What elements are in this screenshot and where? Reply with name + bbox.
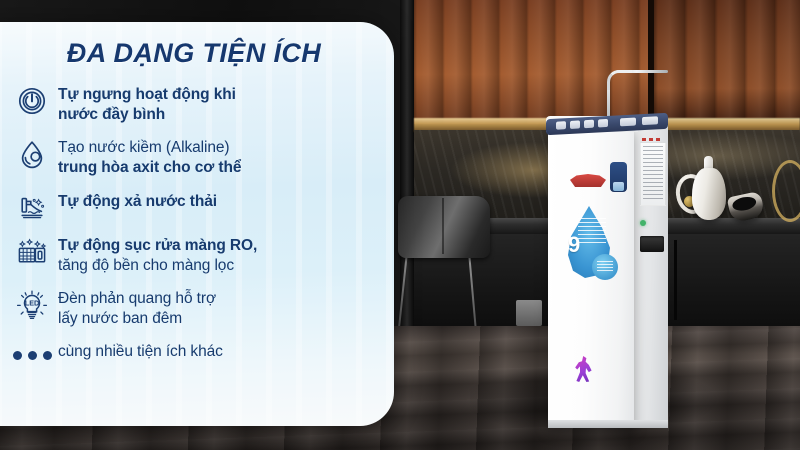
feature-6-line-1: cùng nhiều tiện ích khác xyxy=(58,342,223,362)
feature-2-line-2: trung hòa axit cho cơ thể xyxy=(58,158,241,178)
led-bulb-icon: LED xyxy=(6,288,58,322)
sticker-number: 9 xyxy=(568,232,580,258)
sticker-text-lines xyxy=(578,218,606,244)
spec-label xyxy=(640,142,666,206)
list-item-text: Tự động xả nước thải xyxy=(58,191,217,212)
dispenser-badge xyxy=(610,162,627,192)
promo-banner: 9 ĐA DẠNG TIỆN ÍCH xyxy=(0,0,800,450)
cabinet-plinth xyxy=(516,300,542,326)
list-item-text: Đèn phản quang hỗ trợ lấy nước ban đêm xyxy=(58,288,216,329)
ro-membrane-icon xyxy=(6,235,58,267)
black-chair xyxy=(398,196,490,258)
list-item-text: Tự động sục rửa màng RO, tăng độ bền cho… xyxy=(58,235,257,276)
dot-3 xyxy=(43,351,52,360)
feature-card: ĐA DẠNG TIỆN ÍCH Tự ngưng hoạt động khi xyxy=(0,22,394,426)
wood-upper-cabinet-right xyxy=(654,0,800,118)
list-item[interactable]: Tự động sục rửa màng RO, tăng độ bền cho… xyxy=(6,235,390,276)
list-item-text: Tự ngưng hoạt động khi nước đầy bình xyxy=(58,84,236,125)
feature-5-line-1: Đèn phản quang hỗ trợ xyxy=(58,289,216,309)
dot-1 xyxy=(13,351,22,360)
list-item[interactable]: Tự ngưng hoạt động khi nước đầy bình xyxy=(6,84,390,125)
three-dots-icon xyxy=(6,341,58,360)
feature-4-line-1: Tự động sục rửa màng RO, xyxy=(58,236,257,256)
faucet-curve xyxy=(607,70,632,95)
vent-slot xyxy=(640,236,664,252)
status-indicator-icon xyxy=(640,220,646,226)
feature-3-line-1: Tự động xả nước thải xyxy=(58,192,217,212)
svg-text:LED: LED xyxy=(25,298,39,307)
list-item[interactable]: Tạo nước kiềm (Alkaline) trung hòa axit … xyxy=(6,137,390,178)
list-item-text: cùng nhiều tiện ích khác xyxy=(58,341,223,362)
list-item[interactable]: cùng nhiều tiện ích khác xyxy=(6,341,390,362)
gold-ring-decor xyxy=(772,160,800,222)
feature-1-line-1: Tự ngưng hoạt động khi xyxy=(58,85,236,105)
feature-2-line-1: Tạo nước kiềm (Alkaline) xyxy=(58,138,241,158)
list-item[interactable]: LED Đèn phản quang hỗ trợ lấy nước ban đ… xyxy=(6,288,390,329)
list-item[interactable]: Tự động xả nước thải xyxy=(6,191,390,223)
control-button-5[interactable] xyxy=(620,117,636,126)
purifier-base xyxy=(548,420,668,428)
list-item-text: Tạo nước kiềm (Alkaline) trung hòa axit … xyxy=(58,137,241,178)
teapot xyxy=(692,168,726,220)
dot-2 xyxy=(28,351,37,360)
feature-5-line-2: lấy nước ban đêm xyxy=(58,309,216,329)
spec-label-header xyxy=(642,138,660,141)
control-button-4[interactable] xyxy=(598,119,608,128)
power-icon xyxy=(6,84,58,116)
waste-water-drain-icon xyxy=(6,191,58,223)
water-purifier-unit: 9 xyxy=(548,128,668,428)
feature-4-line-2: tăng độ bền cho màng lọc xyxy=(58,256,257,276)
page-title: ĐA DẠNG TIỆN ÍCH xyxy=(24,38,364,69)
control-button-1[interactable] xyxy=(556,121,566,130)
control-button-2[interactable] xyxy=(570,120,580,129)
water-drop-icon xyxy=(6,137,58,169)
control-button-3[interactable] xyxy=(584,120,594,129)
wood-upper-cabinet xyxy=(414,0,654,124)
feature-1-line-2: nước đầy bình xyxy=(58,105,236,125)
sticker-badge-circle xyxy=(592,254,618,280)
feature-list: Tự ngưng hoạt động khi nước đầy bình xyxy=(6,84,390,374)
control-button-6[interactable] xyxy=(642,116,658,125)
